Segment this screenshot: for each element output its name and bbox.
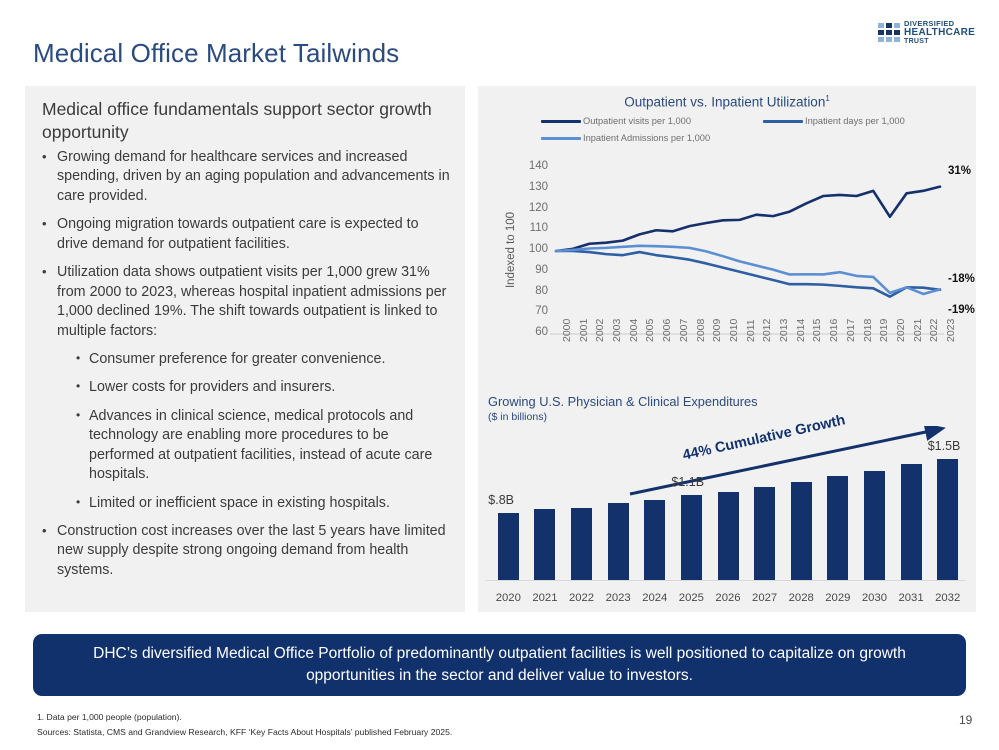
x-axis-tick: 2020 [895, 319, 907, 342]
x-axis-tick: 2001 [578, 319, 590, 342]
x-axis-tick: 2005 [644, 319, 656, 342]
series-end-label: 31% [948, 165, 971, 177]
x-axis-tick: 2007 [678, 319, 690, 342]
bar-value-label: $1.5B [928, 439, 961, 453]
bar [937, 459, 958, 580]
x-axis-tick: 2013 [778, 319, 790, 342]
x-axis-tick: 2012 [761, 319, 773, 342]
line-series [556, 187, 940, 251]
bar [681, 495, 702, 580]
bullet-item: •Growing demand for healthcare services … [42, 148, 452, 206]
bullet-text: Utilization data shows outpatient visits… [57, 263, 452, 341]
right-charts-panel: Outpatient vs. Inpatient Utilization1 Ou… [478, 86, 976, 612]
logo-line-3: TRUST [904, 38, 975, 45]
footnote-sources: Sources: Statista, CMS and Grandview Res… [37, 727, 452, 737]
x-axis-tick: 2004 [628, 319, 640, 342]
sub-bullet-item: •Limited or inefficient space in existin… [76, 494, 452, 513]
sub-bullet-item: •Consumer preference for greater conveni… [76, 350, 452, 369]
bar [827, 476, 848, 580]
bar-x-label: 2025 [673, 592, 709, 604]
bar-chart: 44% Cumulative Growth 2020$.8B2021202220… [478, 426, 976, 612]
logo-wordmark: DIVERSIFIED HEALTHCARE TRUST [904, 20, 975, 45]
x-axis-tick: 2008 [695, 319, 707, 342]
legend-item-inpatient-admissions: Inpatient Admissions per 1,000 [541, 133, 710, 143]
bullet-item: •Ongoing migration towards outpatient ca… [42, 215, 452, 254]
bar [864, 471, 885, 580]
legend-label: Inpatient days per 1,000 [805, 116, 905, 126]
line-chart-plot [478, 144, 976, 384]
bar-value-label: $.8B [488, 493, 514, 507]
bullet-marker: • [42, 263, 57, 341]
line-series [556, 246, 940, 294]
footnote-1: 1. Data per 1,000 people (population). [37, 712, 182, 722]
bar-x-label: 2027 [747, 592, 783, 604]
bullet-text: Ongoing migration towards outpatient car… [57, 215, 452, 254]
bullet-marker: • [76, 350, 89, 369]
x-axis-tick: 2019 [878, 319, 890, 342]
bar [901, 464, 922, 580]
bar-x-label: 2032 [930, 592, 966, 604]
bar-x-label: 2022 [564, 592, 600, 604]
bar-x-label: 2024 [637, 592, 673, 604]
bullet-list: •Growing demand for healthcare services … [42, 148, 452, 589]
x-axis-tick: 2014 [795, 319, 807, 342]
x-axis-tick: 2016 [828, 319, 840, 342]
x-axis-tick: 2018 [862, 319, 874, 342]
bar [718, 492, 739, 580]
sub-bullet-text: Consumer preference for greater convenie… [89, 350, 385, 369]
bar-value-label: $1.1B [671, 475, 704, 489]
legend-item-outpatient-visits: Outpatient visits per 1,000 [541, 116, 691, 126]
legend-swatch [763, 120, 803, 123]
sub-bullet-text: Advances in clinical science, medical pr… [89, 407, 452, 485]
bar [791, 482, 812, 580]
bar-x-label: 2021 [527, 592, 563, 604]
x-axis-tick: 2002 [594, 319, 606, 342]
legend-swatch [541, 137, 581, 140]
x-axis-tick: 2009 [711, 319, 723, 342]
x-axis-tick: 2010 [728, 319, 740, 342]
x-axis-tick: 2015 [811, 319, 823, 342]
x-axis-tick: 2022 [928, 319, 940, 342]
series-end-label: -18% [948, 273, 975, 285]
summary-banner: DHC’s diversified Medical Office Portfol… [33, 634, 966, 696]
sub-bullet-item: •Lower costs for providers and insurers. [76, 378, 452, 397]
x-axis-tick: 2003 [611, 319, 623, 342]
x-axis-tick: 2017 [845, 319, 857, 342]
bar-x-label: 2031 [893, 592, 929, 604]
logo-line-2: HEALTHCARE [904, 28, 975, 38]
bar-chart-title: Growing U.S. Physician & Clinical Expend… [488, 394, 758, 409]
bullet-marker: • [42, 522, 57, 580]
legend-label: Outpatient visits per 1,000 [583, 116, 691, 126]
company-logo: DIVERSIFIED HEALTHCARE TRUST [878, 20, 975, 45]
summary-banner-text: DHC’s diversified Medical Office Portfol… [50, 643, 950, 687]
bar-x-label: 2023 [600, 592, 636, 604]
x-axis-tick: 2006 [661, 319, 673, 342]
bar [534, 509, 555, 580]
bullet-text: Growing demand for healthcare services a… [57, 148, 452, 206]
bar-x-label: 2030 [856, 592, 892, 604]
legend-swatch [541, 120, 581, 123]
bar-x-label: 2029 [820, 592, 856, 604]
bar [644, 500, 665, 581]
left-content-panel: Medical office fundamentals support sect… [25, 86, 465, 612]
legend-label: Inpatient Admissions per 1,000 [583, 133, 710, 143]
bar-x-label: 2020 [490, 592, 526, 604]
bar-x-label: 2026 [710, 592, 746, 604]
bullet-item: •Construction cost increases over the la… [42, 522, 452, 580]
bar-x-label: 2028 [783, 592, 819, 604]
page-title: Medical Office Market Tailwinds [33, 38, 399, 69]
left-panel-heading: Medical office fundamentals support sect… [42, 98, 442, 145]
sub-bullet-list: •Consumer preference for greater conveni… [76, 350, 452, 513]
sub-bullet-text: Limited or inefficient space in existing… [89, 494, 390, 513]
sub-bullet-text: Lower costs for providers and insurers. [89, 378, 335, 397]
slide: DIVERSIFIED HEALTHCARE TRUST Medical Off… [0, 0, 999, 750]
bullet-marker: • [76, 407, 89, 485]
sub-bullet-item: •Advances in clinical science, medical p… [76, 407, 452, 485]
bullet-item: •Utilization data shows outpatient visit… [42, 263, 452, 341]
bullet-marker: • [42, 215, 57, 254]
bullet-marker: • [42, 148, 57, 206]
page-number: 19 [959, 713, 972, 727]
line-chart-title: Outpatient vs. Inpatient Utilization1 [478, 94, 976, 110]
bullet-text: Construction cost increases over the las… [57, 522, 452, 580]
line-series [556, 251, 940, 297]
bar [754, 487, 775, 580]
bar-chart-subtitle: ($ in billions) [488, 411, 547, 423]
bar [498, 513, 519, 580]
x-axis-tick: 2021 [912, 319, 924, 342]
series-end-label: -19% [948, 304, 975, 316]
bar [608, 503, 629, 580]
x-axis-tick: 2000 [561, 319, 573, 342]
logo-grid-icon [878, 23, 900, 42]
growth-annotation-label: 44% Cumulative Growth [681, 412, 847, 464]
bullet-marker: • [76, 494, 89, 513]
bullet-marker: • [76, 378, 89, 397]
x-axis-tick: 2023 [945, 319, 957, 342]
bar [571, 508, 592, 580]
bar-chart-axis [486, 580, 966, 581]
line-chart: Indexed to 100 6070809010011012013014020… [478, 144, 976, 384]
x-axis-tick: 2011 [745, 319, 757, 342]
legend-item-inpatient-days: Inpatient days per 1,000 [763, 116, 905, 126]
